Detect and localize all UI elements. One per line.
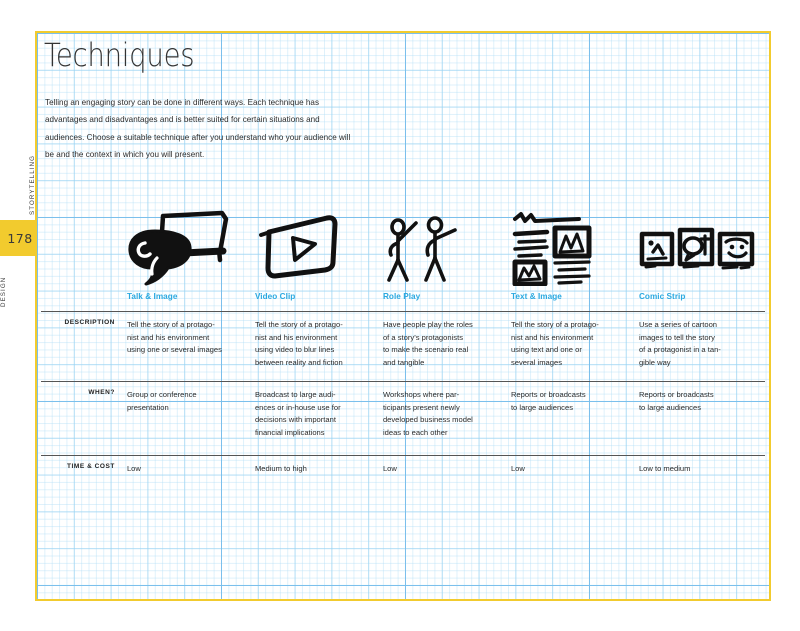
table-row-time-and-cost: TIME & COST Low Medium to high Low Low L… — [41, 456, 765, 490]
video-play-button-icon — [255, 210, 381, 286]
cell-description-role-play: Have people play the roles of a story’s … — [381, 312, 509, 382]
two-stick-figures-icon — [383, 210, 509, 286]
row-label-description-text: DESCRIPTION — [64, 319, 114, 326]
column-header-role-play: Role Play — [381, 290, 509, 312]
icon-cell-video-clip — [253, 196, 381, 290]
page-root: STORYTELLING 178 DESIGN Techniques Telli… — [0, 0, 800, 631]
column-header-video-clip: Video Clip — [253, 290, 381, 312]
cell-description-talk-and-image: Tell the story of a protago- nist and hi… — [125, 312, 253, 382]
column-header-text-and-image: Text & Image — [509, 290, 637, 312]
page-number-badge: 178 — [0, 220, 40, 256]
cell-time-cost-video-clip: Medium to high — [253, 456, 381, 490]
table-row-when: WHEN? Group or conference presentation B… — [41, 382, 765, 456]
comic-strip-panels-icon — [639, 210, 765, 286]
page-number: 178 — [7, 231, 32, 246]
techniques-table: Talk & Image Video Clip Role Play Text &… — [41, 196, 765, 489]
row-label-description: DESCRIPTION — [41, 312, 125, 382]
cell-time-cost-role-play: Low — [381, 456, 509, 490]
header-spacer — [41, 290, 125, 312]
table-row-description: DESCRIPTION Tell the story of a protago-… — [41, 312, 765, 382]
icon-cell-role-play — [381, 196, 509, 290]
intro-paragraph: Telling an engaging story can be done in… — [45, 94, 355, 164]
page-content: Techniques Telling an engaging story can… — [35, 31, 771, 601]
cell-time-cost-comic-strip: Low to medium — [637, 456, 765, 490]
cell-when-text-and-image: Reports or broadcasts to large audiences — [509, 382, 637, 456]
cell-description-text-and-image: Tell the story of a protago- nist and hi… — [509, 312, 637, 382]
cell-when-role-play: Workshops where par- ticipants present n… — [381, 382, 509, 456]
column-header-comic-strip: Comic Strip — [637, 290, 765, 312]
icon-row — [41, 196, 765, 290]
icon-cell-talk-and-image — [125, 196, 253, 290]
cell-when-video-clip: Broadcast to large audi- ences or in-hou… — [253, 382, 381, 456]
page-title: Techniques — [44, 36, 194, 74]
row-label-time-and-cost: TIME & COST — [41, 456, 125, 490]
icon-cell-text-and-image — [509, 196, 637, 290]
row-label-time-and-cost-text: TIME & COST — [67, 463, 115, 470]
column-header-row: Talk & Image Video Clip Role Play Text &… — [41, 290, 765, 312]
cell-time-cost-text-and-image: Low — [509, 456, 637, 490]
cell-when-comic-strip: Reports or broadcasts to large audiences — [637, 382, 765, 456]
chapter-label-storytelling: STORYTELLING — [0, 150, 36, 220]
row-label-when-text: WHEN? — [88, 389, 115, 396]
icon-row-spacer — [41, 196, 125, 290]
cell-time-cost-talk-and-image: Low — [125, 456, 253, 490]
icon-cell-comic-strip — [637, 196, 765, 290]
column-header-talk-and-image: Talk & Image — [125, 290, 253, 312]
cell-description-comic-strip: Use a series of cartoon images to tell t… — [637, 312, 765, 382]
section-label-design: DESIGN — [0, 262, 36, 322]
cell-description-video-clip: Tell the story of a protago- nist and hi… — [253, 312, 381, 382]
cell-when-talk-and-image: Group or conference presentation — [125, 382, 253, 456]
newspaper-article-icon — [511, 210, 637, 286]
speech-bubble-and-screen-icon — [127, 210, 253, 286]
row-label-when: WHEN? — [41, 382, 125, 456]
